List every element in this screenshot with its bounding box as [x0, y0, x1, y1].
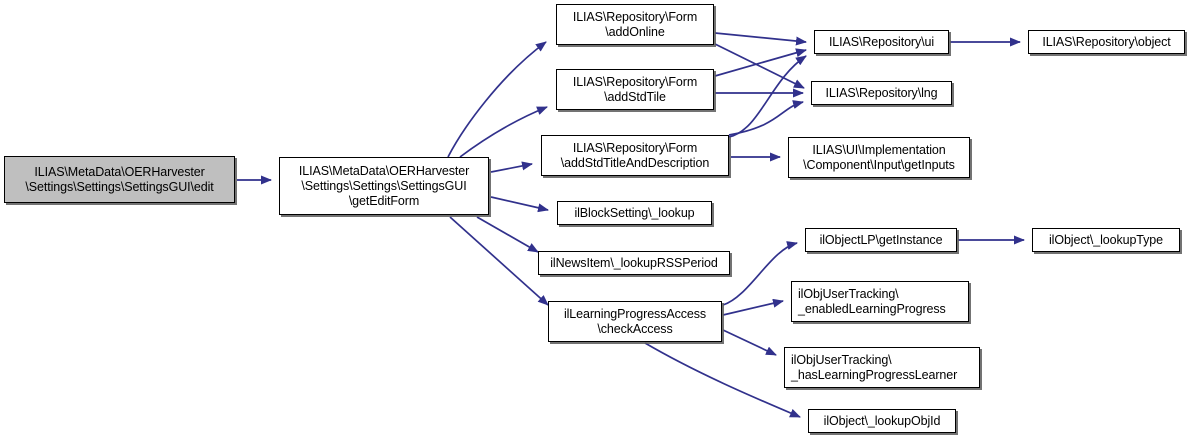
node-repository-ui[interactable]: ILIAS\Repository\ui [814, 30, 949, 54]
edge-checkAccess-to-ilObjectLookupObjId [645, 343, 800, 417]
node-form-addonline[interactable]: ILIAS\Repository\Form \addOnline [556, 4, 714, 45]
node-label: ILIAS\MetaData\OERHarvester \Settings\Se… [5, 165, 234, 195]
node-label: ilObject\_lookupType [1033, 233, 1179, 248]
node-label: ILIAS\Repository\Form \addOnline [557, 10, 713, 40]
call-graph-canvas: ILIAS\MetaData\OERHarvester \Settings\Se… [0, 0, 1195, 442]
node-label: ILIAS\Repository\Form \addStdTile [557, 75, 713, 105]
node-illearningprogressaccess-checkaccess[interactable]: ilLearningProgressAccess \checkAccess [548, 301, 722, 342]
node-ilblocksetting-lookup[interactable]: ilBlockSetting\_lookup [557, 201, 712, 225]
node-ilobject-lookupobjid[interactable]: ilObject\_lookupObjId [808, 409, 956, 433]
node-label: ilBlockSetting\_lookup [558, 206, 711, 221]
edge-addOnline-to-lng [715, 44, 804, 88]
node-form-addstdtitleanddescription[interactable]: ILIAS\Repository\Form \addStdTitleAndDes… [541, 135, 729, 176]
node-label: ilLearningProgressAccess \checkAccess [549, 307, 721, 337]
node-ilobjectlp-getinstance[interactable]: ilObjectLP\getInstance [805, 228, 957, 252]
node-repository-lng[interactable]: ILIAS\Repository\lng [811, 81, 952, 105]
node-label: ilNewsItem\_lookupRSSPeriod [539, 256, 729, 271]
edge-getEditForm-to-ilBlockSetting [491, 197, 548, 210]
node-settingsgui-edit[interactable]: ILIAS\MetaData\OERHarvester \Settings\Se… [4, 156, 235, 203]
node-ilnewsitem-lookuprssperiod[interactable]: ilNewsItem\_lookupRSSPeriod [538, 251, 730, 275]
node-settingsgui-geteditform[interactable]: ILIAS\MetaData\OERHarvester \Settings\Se… [279, 157, 489, 215]
node-ui-implementation-getinputs[interactable]: ILIAS\UI\Implementation \Component\Input… [788, 137, 970, 178]
node-repository-object[interactable]: ILIAS\Repository\object [1028, 30, 1185, 54]
node-ilobject-lookuptype[interactable]: ilObject\_lookupType [1032, 228, 1180, 252]
edge-checkAccess-to-enabledLearningProgress [723, 301, 783, 315]
node-label: ILIAS\Repository\object [1029, 35, 1184, 50]
node-label: ILIAS\UI\Implementation \Component\Input… [789, 143, 969, 173]
node-label: ilObjUserTracking\ _hasLearningProgressL… [785, 353, 979, 383]
edge-addStdTile-to-ui [715, 50, 806, 76]
edge-addStdTitleAndDescription-to-lng [729, 102, 803, 135]
node-ilobjusertracking-enabledlearningprogress[interactable]: ilObjUserTracking\ _enabledLearningProgr… [791, 281, 969, 322]
edge-getEditForm-to-addOnline [448, 42, 546, 157]
node-label: ilObject\_lookupObjId [809, 414, 955, 429]
edge-addOnline-to-ui [715, 33, 806, 42]
edge-getEditForm-to-ilNewsItem [477, 217, 538, 252]
edge-checkAccess-to-ilObjectLP [723, 243, 797, 305]
edge-checkAccess-to-hasLearningProgressLearner [723, 330, 776, 355]
node-label: ilObjectLP\getInstance [806, 233, 956, 248]
node-ilobjusertracking-haslearningprogresslearner[interactable]: ilObjUserTracking\ _hasLearningProgressL… [784, 347, 980, 388]
node-label: ILIAS\Repository\Form \addStdTitleAndDes… [542, 141, 728, 171]
edge-getEditForm-to-addStdTitleAndDescription [491, 164, 532, 172]
node-form-addstdtile[interactable]: ILIAS\Repository\Form \addStdTile [556, 69, 714, 110]
node-label: ILIAS\Repository\lng [812, 86, 951, 101]
edge-getEditForm-to-addStdTile [460, 107, 547, 157]
node-label: ilObjUserTracking\ _enabledLearningProgr… [792, 287, 968, 317]
node-label: ILIAS\Repository\ui [815, 35, 948, 50]
node-label: ILIAS\MetaData\OERHarvester \Settings\Se… [280, 164, 488, 209]
